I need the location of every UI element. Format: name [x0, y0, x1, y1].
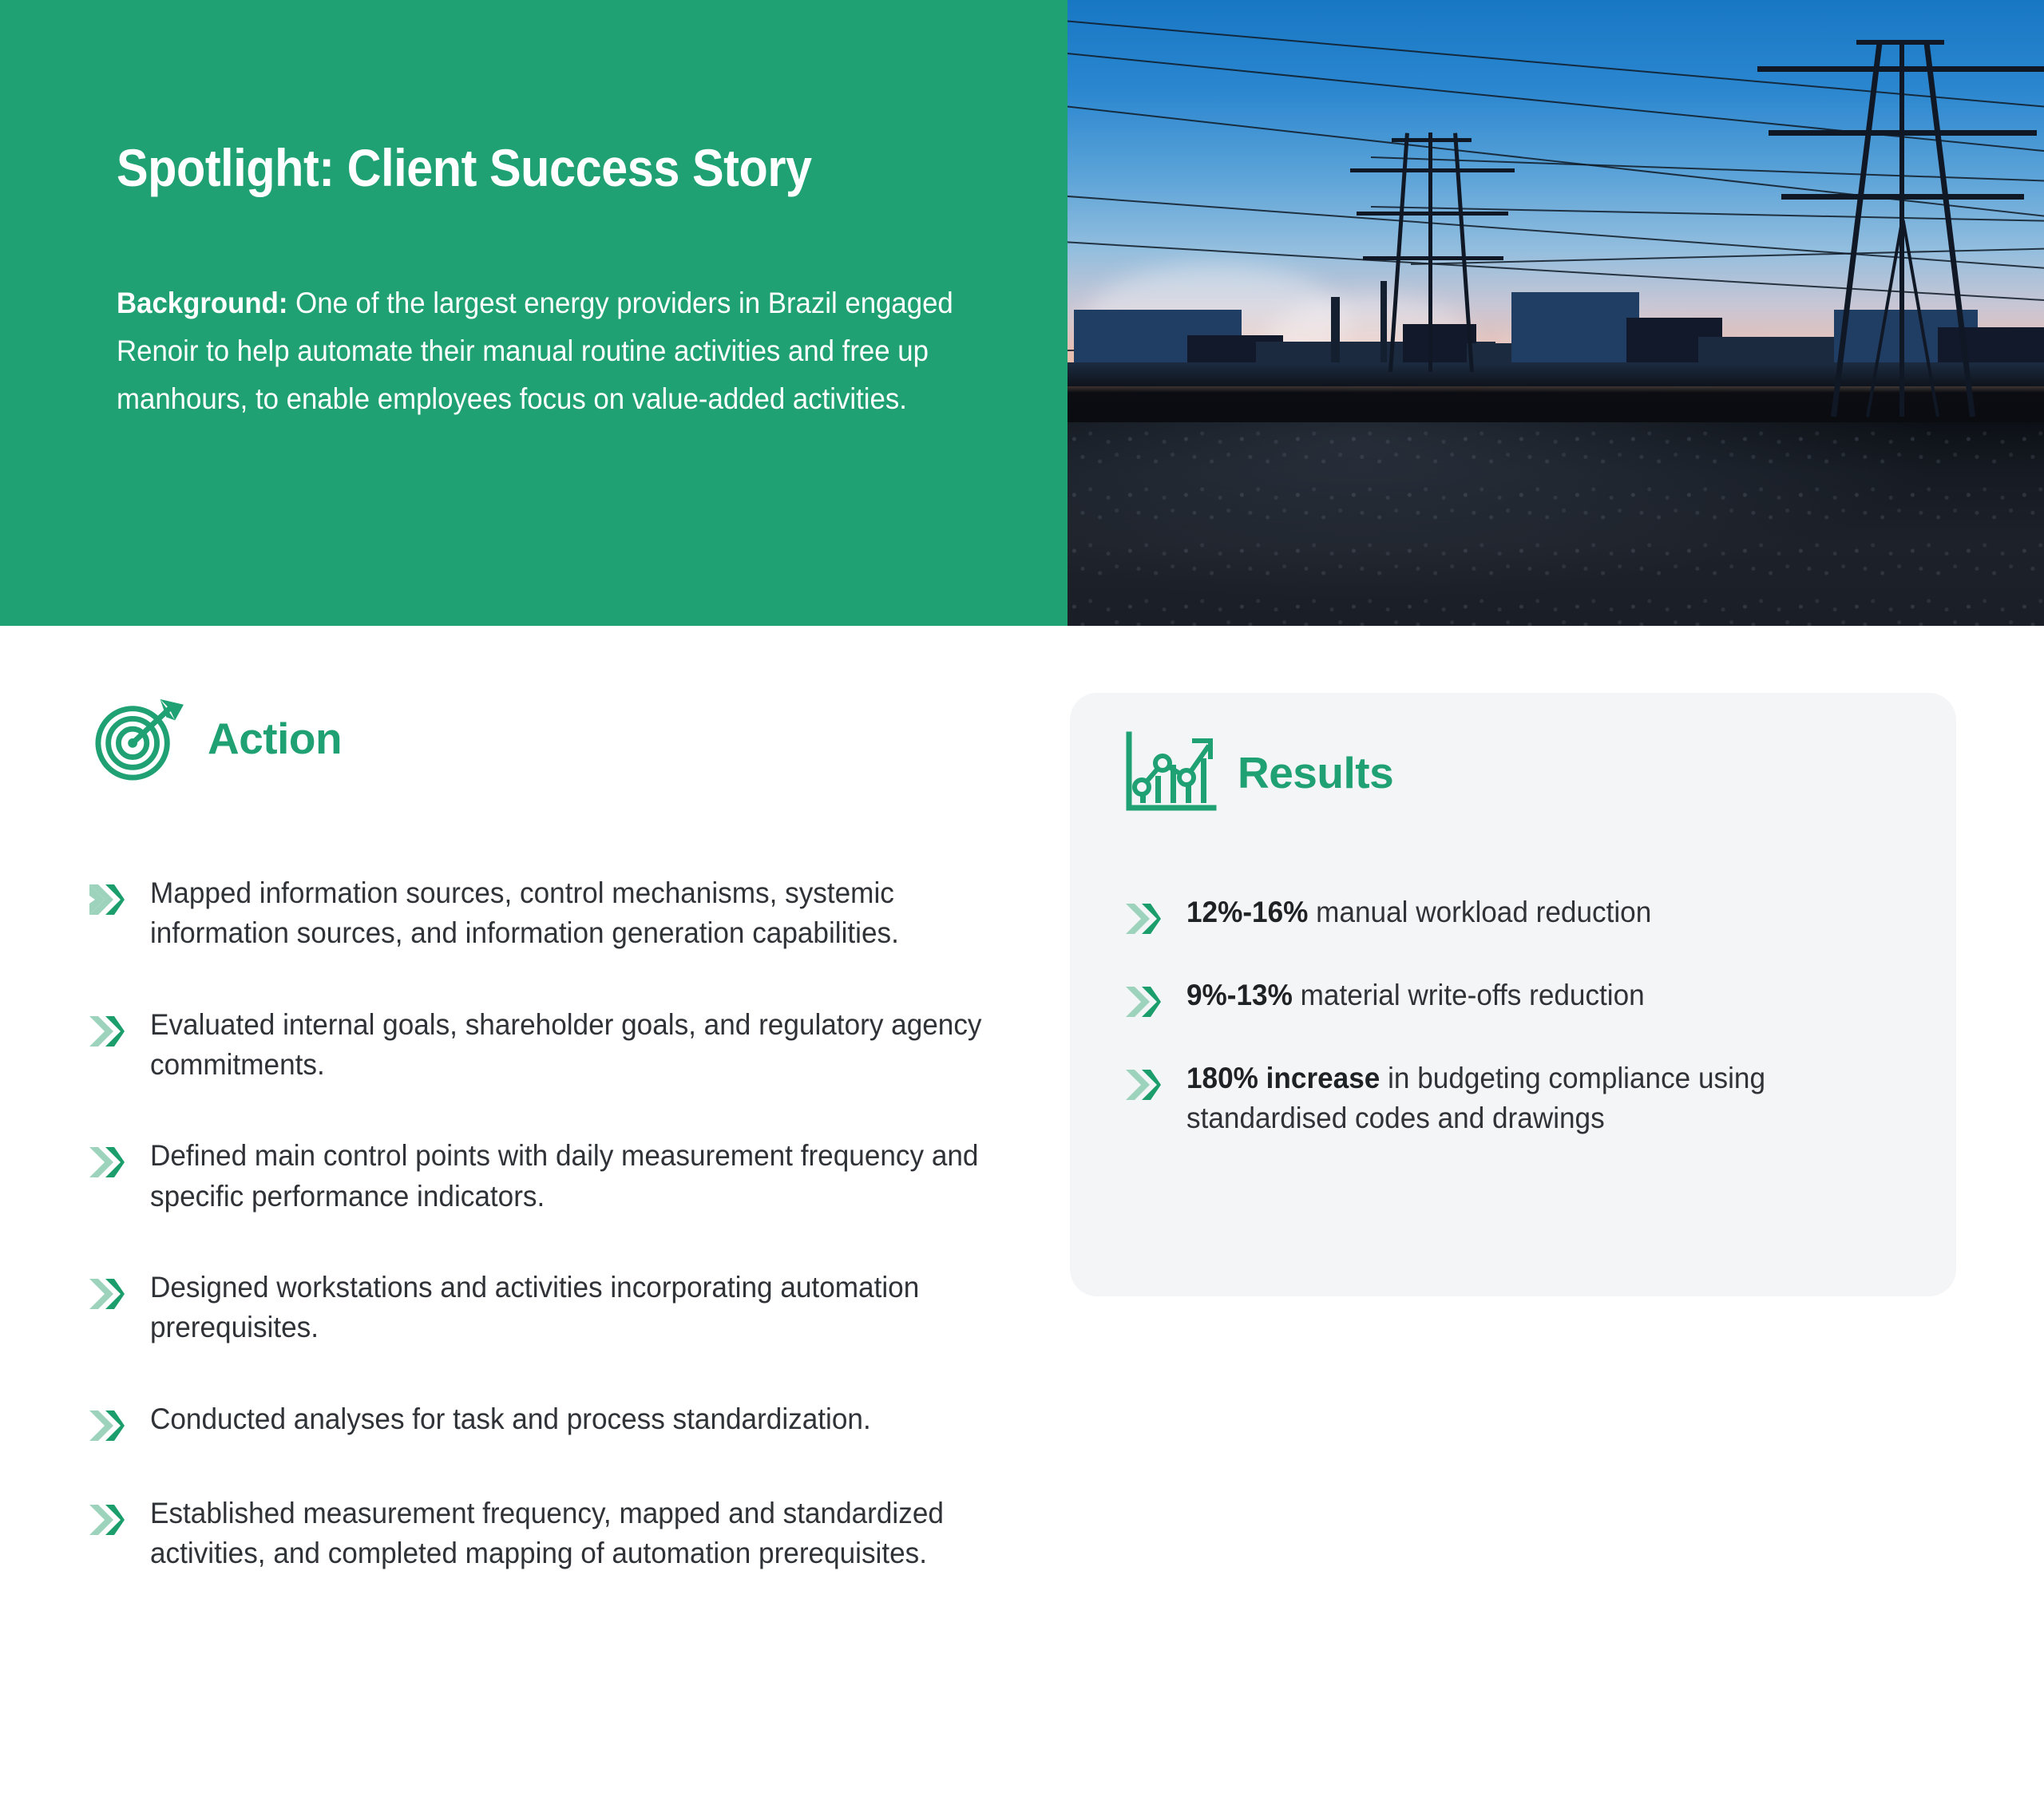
pylon-leg — [1831, 44, 1882, 417]
results-card: Results 12%-16% manual workload reductio… — [1070, 693, 1956, 1296]
pylon-crossarm — [1769, 130, 2037, 136]
background-label: Background: — [117, 287, 287, 319]
transmission-pylon — [1384, 133, 1480, 372]
action-header: Action — [88, 694, 1030, 782]
double-chevron-icon — [88, 1409, 125, 1442]
pylon-leg — [1902, 220, 1939, 417]
result-description: material write-offs reduction — [1293, 979, 1645, 1011]
pylon-crossarm — [1350, 168, 1515, 172]
pylon-crossarm — [1856, 40, 1944, 45]
list-item: 180% increase in budgeting compliance us… — [1124, 1058, 1918, 1139]
list-item-text: Designed workstations and activities inc… — [150, 1268, 986, 1348]
double-chevron-icon — [1124, 985, 1161, 1019]
list-item: 9%-13% material write-offs reduction — [1124, 975, 1918, 1019]
double-chevron-icon — [88, 883, 125, 916]
double-chevron-icon — [1124, 902, 1161, 936]
double-chevron-icon — [88, 1277, 125, 1311]
action-bullet-list: Mapped information sources, control mech… — [88, 873, 1030, 1573]
list-item: Mapped information sources, control mech… — [88, 873, 1030, 954]
hero-section: Spotlight: Client Success Story Backgrou… — [0, 0, 2044, 626]
result-metric: 180% increase — [1186, 1062, 1380, 1094]
content-section: Action Mapped information sources, contr… — [0, 626, 2044, 1816]
transmission-pylon — [1828, 42, 1979, 417]
pylon-crossarm — [1357, 212, 1508, 216]
double-chevron-icon — [88, 1503, 125, 1537]
pylon-crossarm — [1781, 194, 2024, 200]
action-column: Action Mapped information sources, contr… — [88, 694, 1030, 1573]
list-item-text: Evaluated internal goals, shareholder go… — [150, 1005, 986, 1086]
list-item-text: Established measurement frequency, mappe… — [150, 1494, 986, 1574]
list-item-text: 9%-13% material write-offs reduction — [1186, 975, 1881, 1015]
list-item: Designed workstations and activities inc… — [88, 1268, 1030, 1348]
results-bullet-list: 12%-16% manual workload reduction 9%-13%… — [1124, 892, 1918, 1139]
list-item: 12%-16% manual workload reduction — [1124, 892, 1918, 936]
results-header: Results — [1124, 731, 1918, 814]
action-title: Action — [208, 713, 342, 764]
list-item-text: 12%-16% manual workload reduction — [1186, 892, 1881, 932]
foreground-ground — [1068, 422, 2044, 626]
pylon-crossarm — [1392, 138, 1472, 142]
result-description: manual workload reduction — [1308, 896, 1651, 928]
double-chevron-icon — [88, 1145, 125, 1179]
list-item: Conducted analyses for task and process … — [88, 1399, 1030, 1442]
list-item-text: Conducted analyses for task and process … — [150, 1399, 986, 1439]
double-chevron-icon — [1124, 1068, 1161, 1102]
result-metric: 9%-13% — [1186, 979, 1293, 1011]
hero-green-panel: Spotlight: Client Success Story Backgrou… — [0, 0, 1068, 626]
result-metric: 12%-16% — [1186, 896, 1308, 928]
results-inner: Results 12%-16% manual workload reductio… — [1124, 731, 1918, 1179]
hero-photo — [1068, 0, 2044, 626]
pylon-leg — [1866, 220, 1903, 417]
list-item: Defined main control points with daily m… — [88, 1136, 1030, 1217]
pylon-crossarm — [1363, 256, 1503, 260]
pylon-crossarm — [1757, 66, 2044, 72]
hero-background-paragraph: Background: One of the largest energy pr… — [117, 279, 965, 423]
pylon-leg — [1924, 44, 1975, 417]
growth-chart-icon — [1124, 731, 1218, 814]
list-item-text: 180% increase in budgeting compliance us… — [1186, 1058, 1881, 1139]
target-arrow-icon — [88, 694, 188, 782]
double-chevron-icon — [88, 1015, 125, 1048]
results-title: Results — [1238, 747, 1393, 798]
page-title: Spotlight: Client Success Story — [117, 140, 907, 196]
list-item-text: Defined main control points with daily m… — [150, 1136, 986, 1217]
list-item: Evaluated internal goals, shareholder go… — [88, 1005, 1030, 1086]
spotlight-client-success-page: Spotlight: Client Success Story Backgrou… — [0, 0, 2044, 1816]
list-item-text: Mapped information sources, control mech… — [150, 873, 986, 954]
list-item: Established measurement frequency, mappe… — [88, 1494, 1030, 1574]
